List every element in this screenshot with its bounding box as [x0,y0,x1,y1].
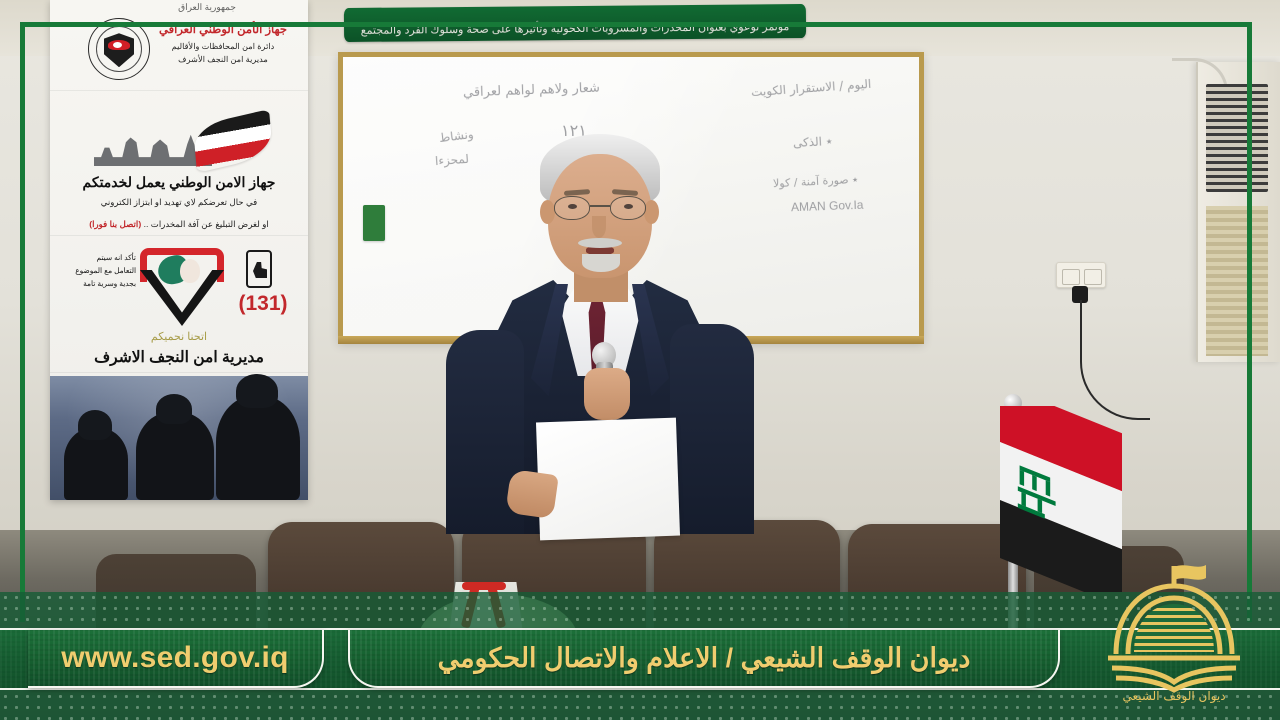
speaker-arm-right [670,324,754,534]
diwan-alwaqf-alshiee-logo[interactable]: ديوان الوقف الشيعي [1090,558,1258,704]
handwriting-line: ٭ صورة آمنة / كولا [773,173,859,190]
poster-header: جمهورية العراق جهاز الأمن الوطني العراقي… [50,14,308,88]
speaker-moustache [578,238,622,248]
poster-org-line3: مديرية امن النجف الأشرف [148,54,298,67]
poster-hotline-number: (131) [228,292,298,316]
poster-org-subtitle: دائرة امن المحافظات والأقاليم مديرية امن… [148,41,298,66]
speaker-hand-holding-paper [505,469,559,519]
speaker-nose [592,216,606,238]
poster-swat-photo [50,376,308,500]
wall-banner-text: مؤتمر توعوي بعنوان المخدرات والمشروبات ا… [344,20,806,37]
speaker-hand-holding-mic [584,368,630,420]
poster-top-line: جمهورية العراق [112,2,302,13]
poster-org-title: جهاز الأمن الوطني العراقي [148,22,298,36]
handwriting-line: AMAN Gov.Ia [791,198,864,215]
poster-body-line2: او لغرض التبليغ عن آفة المخدرات .. (اتصل… [60,219,298,230]
iraqi-national-security-poster: جمهورية العراق جهاز الأمن الوطني العراقي… [50,0,308,500]
handwriting-line: ٭ الذكى [793,134,833,150]
air-conditioner-unit [1196,62,1280,362]
poster-side-note: تأكد انه سيتم التعامل مع الموضوع بجدية و… [74,252,136,291]
anti-harassment-logo-icon [136,248,228,328]
footer-band: www.sed.gov.iq ديوان الوقف الشيعي / الاع… [0,592,1280,720]
organization-title-text: ديوان الوقف الشيعي / الاعلام والاتصال ال… [438,643,971,674]
green-marker-magnet-icon [363,205,385,241]
national-security-seal-icon [88,18,150,80]
speaker-beard [582,254,620,272]
organization-title-plate: ديوان الوقف الشيعي / الاعلام والاتصال ال… [348,630,1060,688]
poster-slogan: جهاز الامن الوطني يعمل لخدمتكم [62,174,296,191]
handwriting-line: اليوم / الاستقرار الكويت [751,77,872,99]
poster-body-red: (اتصل بنا فورا) [89,219,141,229]
wall-power-outlet [1056,262,1106,288]
poster-directorate: مديرية امن النجف الاشرف [62,348,296,367]
poster-body-line1: في حال تعرضكم لاي تهديد او ابتزاز الكترو… [60,196,298,210]
website-url-text: www.sed.gov.iq [61,641,289,675]
poster-unite-text: اتحنا نحميكم [62,330,296,343]
poster-body-plain: او لغرض التبليغ عن آفة المخدرات .. [144,219,269,229]
handwriting-line: شعار ولاهم لواهم لعراقي [463,81,600,101]
wall-banner: مؤتمر توعوي بعنوان المخدرات والمشروبات ا… [344,4,806,42]
svg-text:ديوان الوقف الشيعي: ديوان الوقف الشيعي [1122,689,1225,704]
poster-org-line2: دائرة امن المحافظات والأقاليم [148,41,298,54]
paper-sheet [536,418,680,541]
speaker-ear-right [644,200,659,224]
screenshot-root: مؤتمر توعوي بعنوان المخدرات والمشروبات ا… [0,0,1280,720]
baghdad-skyline-icon [94,112,274,170]
speaker-ear-left [540,200,555,224]
mobile-phone-tap-icon [246,250,272,288]
website-url-plate[interactable]: www.sed.gov.iq [28,630,324,688]
speaker-at-podium [444,134,756,534]
